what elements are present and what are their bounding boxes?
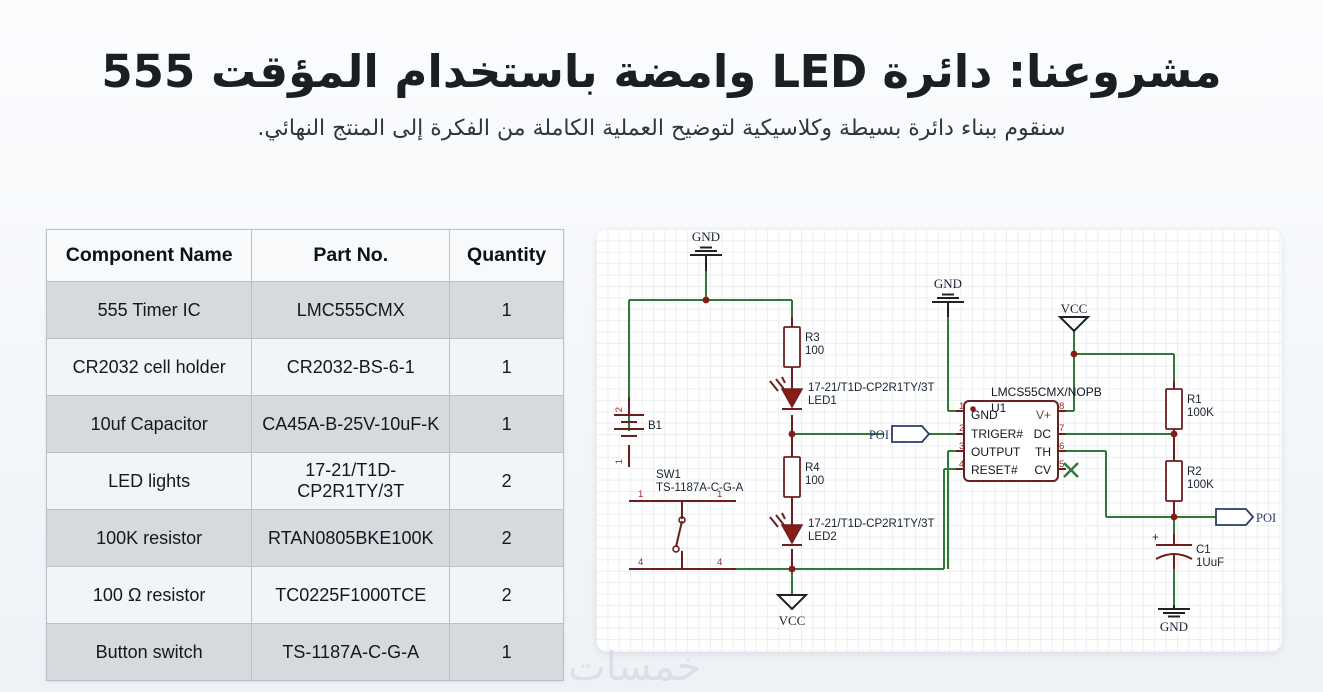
gnd-right-label: GND	[1160, 619, 1188, 634]
junction-dot	[703, 297, 710, 304]
junction-dot	[789, 566, 796, 573]
switch-sw1-ref: SW1	[656, 469, 681, 481]
cell-quantity: 2	[450, 453, 564, 510]
capacitor-polarity-label: +	[1152, 532, 1159, 544]
led1-ref-label: LED1	[808, 395, 837, 407]
port-left-label: POI	[869, 428, 889, 442]
ic-pin-num-7: 7	[1059, 423, 1064, 434]
bom-table-container: Component Name Part No. Quantity 555 Tim…	[46, 229, 564, 681]
vcc-top-symbol	[1060, 317, 1088, 331]
switch-pin-1b-label: 1	[717, 489, 722, 500]
gnd-right-symbol	[1158, 605, 1190, 617]
ic-pin-name-th: TH	[1035, 445, 1051, 459]
ic-pin-num-1: 1	[959, 401, 964, 412]
vcc-bottom-label: VCC	[779, 613, 806, 628]
cell-part-no: TC0225F1000TCE	[252, 567, 450, 624]
gnd-top-label: GND	[692, 229, 720, 244]
schematic-panel: .w { stroke:#2f7a36; stroke-width:2; fil…	[596, 229, 1282, 652]
junction-dot	[1171, 431, 1178, 438]
bom-table: Component Name Part No. Quantity 555 Tim…	[46, 229, 564, 681]
vcc-bottom-symbol	[778, 595, 806, 609]
cell-part-no: CR2032-BS-6-1	[252, 339, 450, 396]
header: مشروعنا: دائرة LED وامضة باستخدام المؤقت…	[0, 0, 1323, 165]
cell-quantity: 1	[450, 339, 564, 396]
resistor-r1-symbol	[1166, 389, 1182, 429]
cell-part-no: LMC555CMX	[252, 282, 450, 339]
cell-part-no: 17-21/T1D-CP2R1TY/3T	[252, 453, 450, 510]
led1-symbol	[770, 377, 802, 409]
resistor-r4-symbol	[784, 457, 800, 497]
resistor-r3-ref: R3	[805, 332, 820, 344]
table-row: LED lights17-21/T1D-CP2R1TY/3T2	[47, 453, 564, 510]
resistor-r3-value: 100	[805, 345, 824, 357]
table-row: 100 Ω resistorTC0225F1000TCE2	[47, 567, 564, 624]
ic-pin-name-gnd: GND	[971, 408, 998, 422]
resistor-r3-symbol	[784, 327, 800, 367]
vcc-top-label: VCC	[1061, 301, 1088, 316]
ic-pin-name-vplus: V+	[1036, 408, 1051, 422]
ic-pin-num-6: 6	[1059, 441, 1064, 452]
ic-pin-num-4: 4	[959, 459, 964, 470]
battery-ref-label: B1	[648, 420, 662, 432]
cell-part-no: RTAN0805BKE100K	[252, 510, 450, 567]
column-header-component-name: Component Name	[47, 230, 252, 282]
ic-pin-num-8: 8	[1059, 401, 1064, 412]
table-row: CR2032 cell holderCR2032-BS-6-11	[47, 339, 564, 396]
switch-pin-4b-label: 4	[717, 557, 722, 568]
port-left-symbol	[892, 426, 929, 442]
page-root: مشروعنا: دائرة LED وامضة باستخدام المؤقت…	[0, 0, 1323, 692]
battery-pin-1-label: 1	[614, 459, 625, 464]
table-row: Button switchTS-1187A-C-G-A1	[47, 624, 564, 681]
circuit-schematic: .w { stroke:#2f7a36; stroke-width:2; fil…	[596, 229, 1282, 652]
ic-pin-name-cv: CV	[1034, 463, 1051, 477]
table-header-row: Component Name Part No. Quantity	[47, 230, 564, 282]
cell-component-name: 100K resistor	[47, 510, 252, 567]
table-head: Component Name Part No. Quantity	[47, 230, 564, 282]
cell-quantity: 2	[450, 567, 564, 624]
gnd-mid-label: GND	[934, 276, 962, 291]
gnd-top-symbol	[690, 248, 722, 272]
cell-component-name: 100 Ω resistor	[47, 567, 252, 624]
led2-symbol	[770, 513, 802, 545]
resistor-r4-value: 100	[805, 475, 824, 487]
switch-pin-1a-label: 1	[638, 489, 643, 500]
cell-part-no: CA45A-B-25V-10uF-K	[252, 396, 450, 453]
resistor-r1-value: 100K	[1187, 407, 1214, 419]
resistor-r1-ref: R1	[1187, 394, 1202, 406]
led1-part-label: 17-21/T1D-CP2R1TY/3T	[808, 382, 935, 394]
ic-pin-num-5: 5	[1059, 459, 1064, 470]
no-connect-icon	[1064, 463, 1078, 477]
table-row: 10uf CapacitorCA45A-B-25V-10uF-K1	[47, 396, 564, 453]
ic-pin-name-output: OUTPUT	[971, 445, 1021, 459]
capacitor-c1-value: 1UuF	[1196, 557, 1224, 569]
cell-component-name: CR2032 cell holder	[47, 339, 252, 396]
page-title: مشروعنا: دائرة LED وامضة باستخدام المؤقت…	[87, 46, 1237, 98]
battery-pin-2-label: 2	[614, 407, 625, 412]
resistor-r2-symbol	[1166, 461, 1182, 501]
resistor-r2-ref: R2	[1187, 466, 1202, 478]
switch-pin-4a-label: 4	[638, 557, 643, 568]
junction-dot	[1071, 351, 1078, 358]
ic-pin-num-3: 3	[959, 441, 964, 452]
port-right-symbol	[1216, 509, 1253, 525]
cell-component-name: Button switch	[47, 624, 252, 681]
cell-quantity: 1	[450, 624, 564, 681]
table-row: 100K resistorRTAN0805BKE100K2	[47, 510, 564, 567]
resistor-r4-ref: R4	[805, 462, 820, 474]
cell-quantity: 2	[450, 510, 564, 567]
cell-component-name: 555 Timer IC	[47, 282, 252, 339]
cell-quantity: 1	[450, 282, 564, 339]
ic-pin-name-reset: RESET#	[971, 463, 1018, 477]
column-header-part-no: Part No.	[252, 230, 450, 282]
ic-pin-name-dc: DC	[1034, 427, 1052, 441]
junction-dot	[789, 431, 796, 438]
cell-part-no: TS-1187A-C-G-A	[252, 624, 450, 681]
capacitor-c1-ref: C1	[1196, 544, 1211, 556]
led2-ref-label: LED2	[808, 531, 837, 543]
table-row: 555 Timer ICLMC555CMX1	[47, 282, 564, 339]
junction-dot	[1171, 514, 1178, 521]
column-header-quantity: Quantity	[450, 230, 564, 282]
cell-component-name: 10uf Capacitor	[47, 396, 252, 453]
cell-component-name: LED lights	[47, 453, 252, 510]
port-right-label: POI	[1256, 511, 1276, 525]
ic-pin-name-triger: TRIGER#	[971, 427, 1023, 441]
ic-u1-part: LMCS55CMX/NOPB	[991, 385, 1102, 399]
cell-quantity: 1	[450, 396, 564, 453]
gnd-mid-symbol	[932, 295, 964, 318]
ic-pin-num-2: 2	[959, 423, 964, 434]
table-body: 555 Timer ICLMC555CMX1CR2032 cell holder…	[47, 282, 564, 681]
resistor-r2-value: 100K	[1187, 479, 1214, 491]
led2-part-label: 17-21/T1D-CP2R1TY/3T	[808, 518, 935, 530]
page-subtitle: سنقوم ببناء دائرة بسيطة وكلاسيكية لتوضيح…	[152, 115, 1172, 144]
switch-sw1-part: TS-1187A-C-G-A	[656, 482, 744, 494]
